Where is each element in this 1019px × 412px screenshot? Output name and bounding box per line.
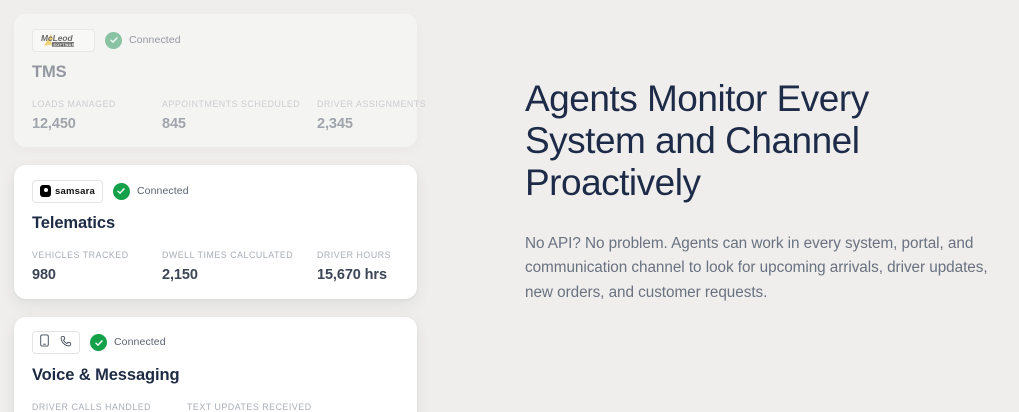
card-title: Telematics: [32, 214, 399, 233]
samsara-logo-icon: samsara: [40, 185, 95, 197]
stat-label: VEHICLES TRACKED: [32, 251, 162, 260]
system-card-voice-messaging[interactable]: Connected Voice & Messaging DRIVER CALLS…: [14, 317, 417, 412]
svg-text:SOFTWARE: SOFTWARE: [53, 42, 77, 46]
card-stats: VEHICLES TRACKED 980 DWELL TIMES CALCULA…: [32, 251, 399, 282]
mcleod-logo-chip: McLeod SOFTWARE: [32, 29, 95, 52]
card-header: Connected: [32, 331, 399, 355]
stat-item: DWELL TIMES CALCULATED 2,150: [162, 251, 317, 282]
stat-item: TEXT UPDATES RECEIVED 5,200: [187, 403, 342, 412]
mcleod-logo-icon: McLeod SOFTWARE: [40, 32, 87, 49]
stat-value: 2,150: [162, 268, 317, 283]
check-circle-icon: [90, 334, 107, 351]
card-stats: LOADS MANAGED 12,450 APPOINTMENTS SCHEDU…: [32, 100, 399, 131]
mobile-phone-icon: [40, 334, 49, 352]
copy-column: Agents Monitor Every System and Channel …: [432, 0, 1019, 306]
stat-value: 2,345: [317, 117, 447, 132]
channel-icon-pair: [40, 334, 72, 352]
system-cards-column: McLeod SOFTWARE Connected TMS: [0, 0, 432, 412]
stat-item: APPOINTMENTS SCHEDULED 845: [162, 100, 317, 131]
stat-label: LOADS MANAGED: [32, 100, 162, 109]
stat-item: DRIVER HOURS 15,670 hrs: [317, 251, 447, 282]
check-circle-icon: [113, 183, 130, 200]
page-headline: Agents Monitor Every System and Channel …: [525, 78, 955, 205]
card-stats: DRIVER CALLS HANDLED 3,430 TEXT UPDATES …: [32, 403, 399, 412]
page-body-copy: No API? No problem. Agents can work in e…: [525, 232, 1005, 306]
status-badge-connected: Connected: [113, 183, 189, 200]
samsara-wordmark: samsara: [55, 187, 95, 197]
stat-label: DRIVER ASSIGNMENTS: [317, 100, 447, 109]
stat-value: 980: [32, 268, 162, 283]
status-badge-connected: Connected: [105, 32, 181, 49]
stat-item: DRIVER CALLS HANDLED 3,430: [32, 403, 187, 412]
card-title: Voice & Messaging: [32, 366, 399, 385]
samsara-glyph-icon: [40, 185, 51, 197]
card-title: TMS: [32, 63, 399, 82]
stat-label: DRIVER CALLS HANDLED: [32, 403, 187, 412]
status-badge-connected: Connected: [90, 334, 166, 351]
status-label: Connected: [137, 186, 189, 197]
stat-label: APPOINTMENTS SCHEDULED: [162, 100, 317, 109]
page-root: McLeod SOFTWARE Connected TMS: [0, 0, 1019, 412]
status-label: Connected: [114, 337, 166, 348]
system-card-telematics[interactable]: samsara Connected Telematics VEHICLES TR…: [14, 165, 417, 298]
telephone-handset-icon: [60, 334, 72, 352]
stat-item: LOADS MANAGED 12,450: [32, 100, 162, 131]
stat-label: DWELL TIMES CALCULATED: [162, 251, 317, 260]
check-circle-icon: [105, 32, 122, 49]
samsara-logo-chip: samsara: [32, 180, 103, 203]
stat-item: VEHICLES TRACKED 980: [32, 251, 162, 282]
svg-text:McLeod: McLeod: [41, 33, 74, 43]
voice-channel-icon-chip: [32, 331, 80, 354]
system-card-tms[interactable]: McLeod SOFTWARE Connected TMS: [14, 14, 417, 147]
stat-value: 845: [162, 117, 317, 132]
stat-value: 15,670 hrs: [317, 268, 447, 283]
card-header: samsara Connected: [32, 179, 399, 203]
stat-label: DRIVER HOURS: [317, 251, 447, 260]
stat-item: DRIVER ASSIGNMENTS 2,345: [317, 100, 447, 131]
card-header: McLeod SOFTWARE Connected: [32, 28, 399, 52]
stat-value: 12,450: [32, 117, 162, 132]
stat-label: TEXT UPDATES RECEIVED: [187, 403, 342, 412]
status-label: Connected: [129, 35, 181, 46]
